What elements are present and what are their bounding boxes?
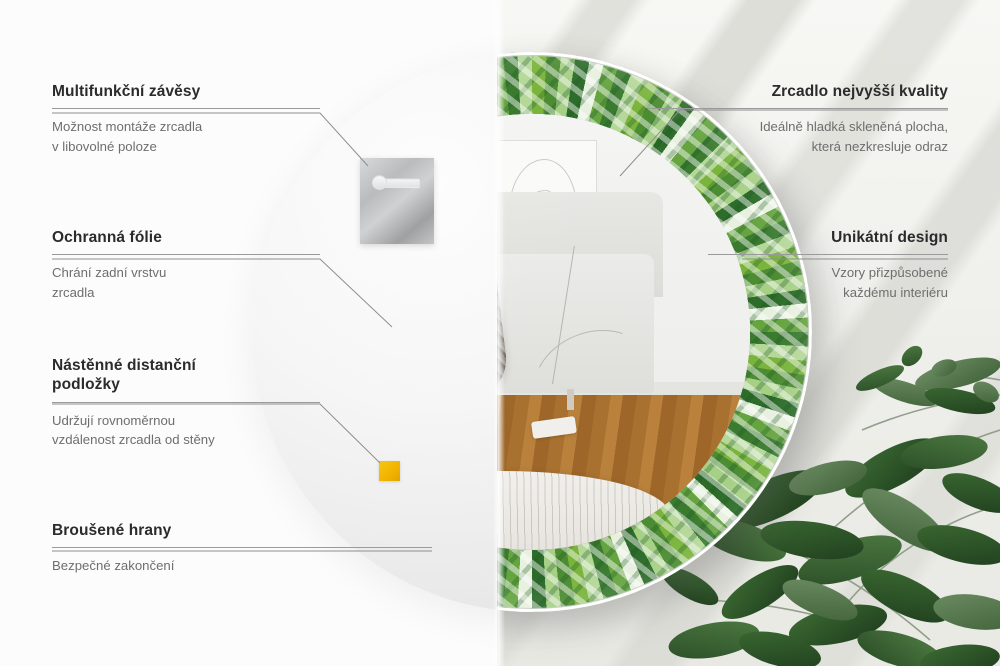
callout-title: Nástěnné distanční podložky	[52, 356, 320, 395]
callout-unique-design: Unikátní design Vzory přizpůsobené každé…	[708, 228, 948, 302]
hanger-plate-icon	[360, 158, 434, 244]
callout-title: Zrcadlo nejvyšší kvality	[648, 82, 948, 101]
callout-title: Multifunkční závěsy	[52, 82, 320, 101]
callout-description: Možnost montáže zrcadla v libovolné polo…	[52, 117, 320, 155]
callout-rule	[52, 547, 432, 548]
mirror-glass	[497, 114, 750, 550]
callout-rule	[52, 108, 320, 109]
callout-description: Vzory přizpůsobené každému interiéru	[708, 263, 948, 301]
callout-rule	[708, 254, 948, 255]
callout-rule	[52, 402, 320, 403]
callout-protective-foil: Ochranná fólie Chrání zadní vrstvu zrcad…	[52, 228, 320, 302]
callout-description: Chrání zadní vrstvu zrcadla	[52, 263, 320, 301]
callout-title: Broušené hrany	[52, 521, 432, 540]
callout-wall-spacers: Nástěnné distanční podložky Udržují rovn…	[52, 356, 320, 449]
callout-title: Unikátní design	[708, 228, 948, 247]
callout-multifunctional-hangers: Multifunkční závěsy Možnost montáže zrca…	[52, 82, 320, 156]
callout-ground-edges: Broušené hrany Bezpečné zakončení	[52, 521, 432, 576]
callout-highest-quality-mirror: Zrcadlo nejvyšší kvality Ideálně hladká …	[648, 82, 948, 156]
callout-rule	[52, 254, 320, 255]
infographic-canvas: Multifunkční závěsy Možnost montáže zrca…	[0, 0, 1000, 666]
callout-description: Bezpečné zakončení	[52, 556, 432, 575]
callout-description: Ideálně hladká skleněná plocha, která ne…	[648, 117, 948, 155]
callout-description: Udržují rovnoměrnou vzdálenost zrcadla o…	[52, 411, 320, 449]
wall-spacer-pad-icon	[379, 461, 400, 481]
hanger-keyhole-slot	[374, 178, 420, 187]
callout-rule	[648, 108, 948, 109]
callout-title: Ochranná fólie	[52, 228, 320, 247]
